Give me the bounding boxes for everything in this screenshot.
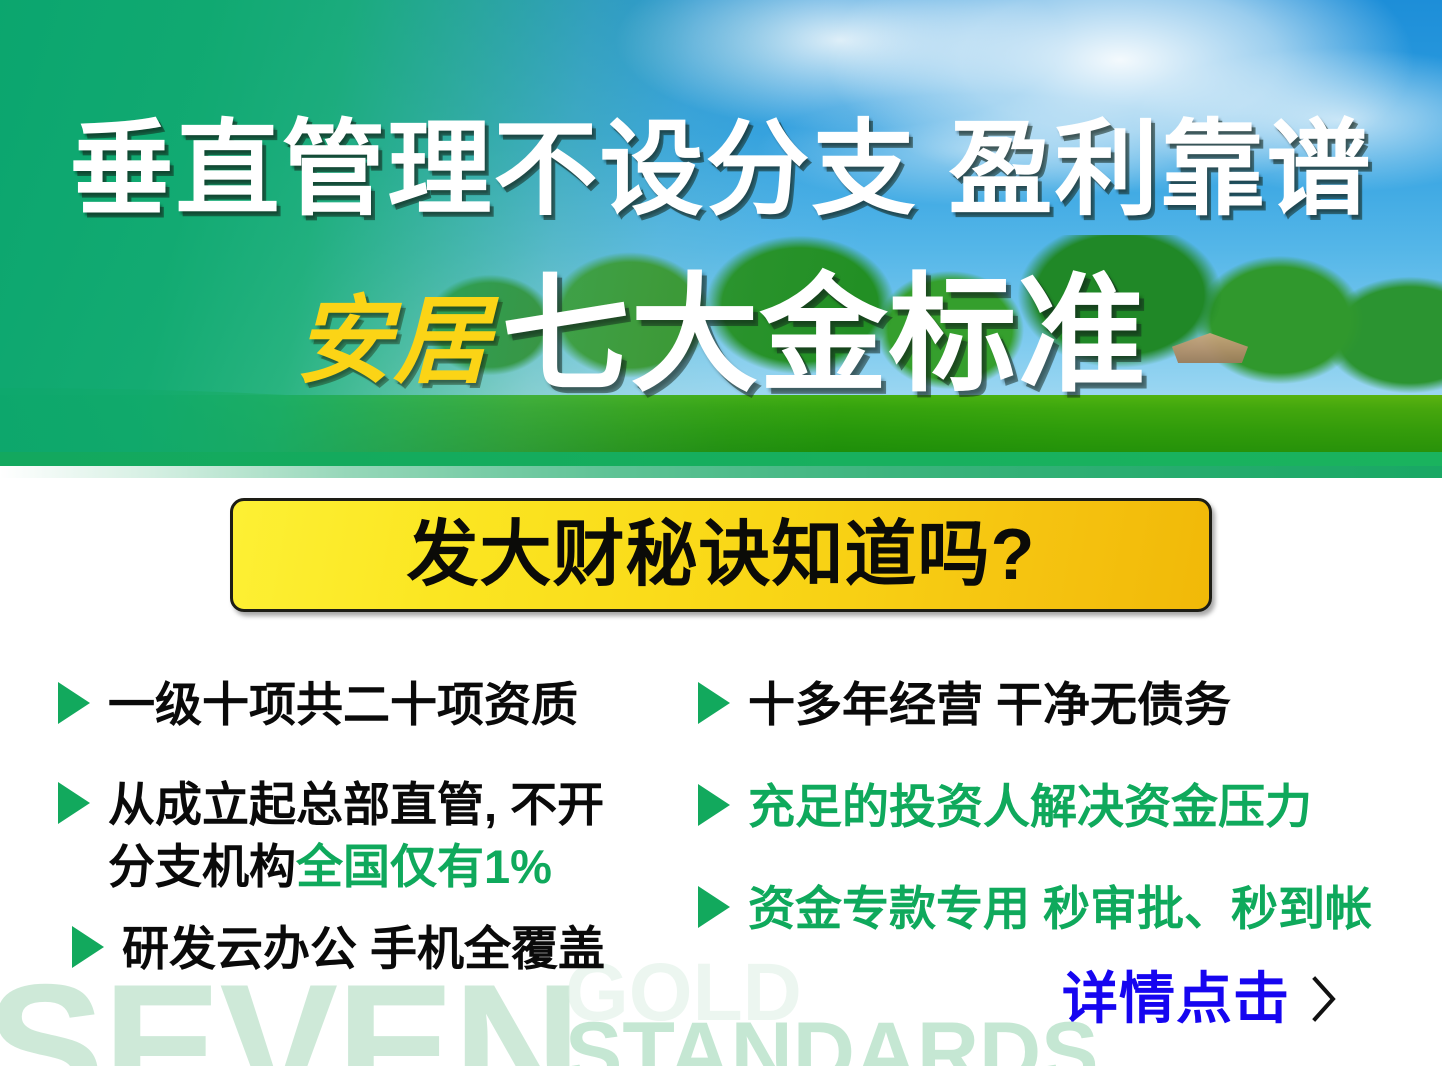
- details-cta-link[interactable]: 详情点击: [1062, 968, 1338, 1030]
- feature-item: 十多年经营 干净无债务: [698, 674, 1231, 736]
- feature-text: 研发云办公 手机全覆盖: [122, 918, 605, 980]
- feature-item: 一级十项共二十项资质: [58, 674, 578, 736]
- feature-text-line1: 从成立起总部直管, 不开: [108, 778, 604, 831]
- triangle-right-icon: [72, 926, 104, 968]
- feature-text: 充足的投资人解决资金压力: [748, 776, 1312, 838]
- hero-bottom-fade-strip: [0, 466, 1442, 478]
- hero-headline-sub: 七大金标准: [501, 272, 1146, 400]
- features-section: 一级十项共二十项资质 从成立起总部直管, 不开分支机构全国仅有1% 研发云办公 …: [0, 660, 1442, 980]
- hero-bottom-green-bar: [0, 452, 1442, 466]
- feature-text: 资金专款专用 秒审批、秒到帐: [748, 878, 1372, 940]
- feature-item: 研发云办公 手机全覆盖: [72, 918, 605, 980]
- feature-text-highlight: 全国仅有1%: [296, 840, 552, 893]
- feature-text-line2: 分支机构: [108, 840, 296, 893]
- triangle-right-icon: [698, 886, 730, 928]
- advertisement-banner: 垂直管理不设分支 盈利靠谱 安居七大金标准 发大财秘诀知道吗? SEVEN GO…: [0, 0, 1442, 1066]
- feature-text: 一级十项共二十项资质: [108, 674, 578, 736]
- yellow-banner-text: 发大财秘诀知道吗?: [407, 517, 1036, 593]
- hero-headline-main: 垂直管理不设分支 盈利靠谱: [0, 114, 1442, 226]
- feature-item: 充足的投资人解决资金压力: [698, 776, 1312, 838]
- feature-item: 从成立起总部直管, 不开分支机构全国仅有1%: [58, 774, 628, 898]
- feature-text: 十多年经营 干净无债务: [748, 674, 1231, 736]
- hero-brand-word: 安居: [295, 278, 491, 406]
- cta-label: 详情点击: [1062, 968, 1290, 1030]
- triangle-right-icon: [58, 682, 90, 724]
- triangle-right-icon: [698, 784, 730, 826]
- feature-item: 资金专款专用 秒审批、秒到帐: [698, 878, 1372, 940]
- chevron-right-icon: [1312, 976, 1338, 1022]
- watermark-standards: STANDARDS: [565, 1010, 1099, 1066]
- hero-section: 垂直管理不设分支 盈利靠谱 安居七大金标准: [0, 0, 1442, 478]
- yellow-question-banner[interactable]: 发大财秘诀知道吗?: [230, 498, 1212, 612]
- hero-headline-sub-row: 安居七大金标准: [0, 272, 1442, 400]
- feature-text-multiline: 从成立起总部直管, 不开分支机构全国仅有1%: [108, 774, 628, 898]
- triangle-right-icon: [58, 782, 90, 824]
- triangle-right-icon: [698, 682, 730, 724]
